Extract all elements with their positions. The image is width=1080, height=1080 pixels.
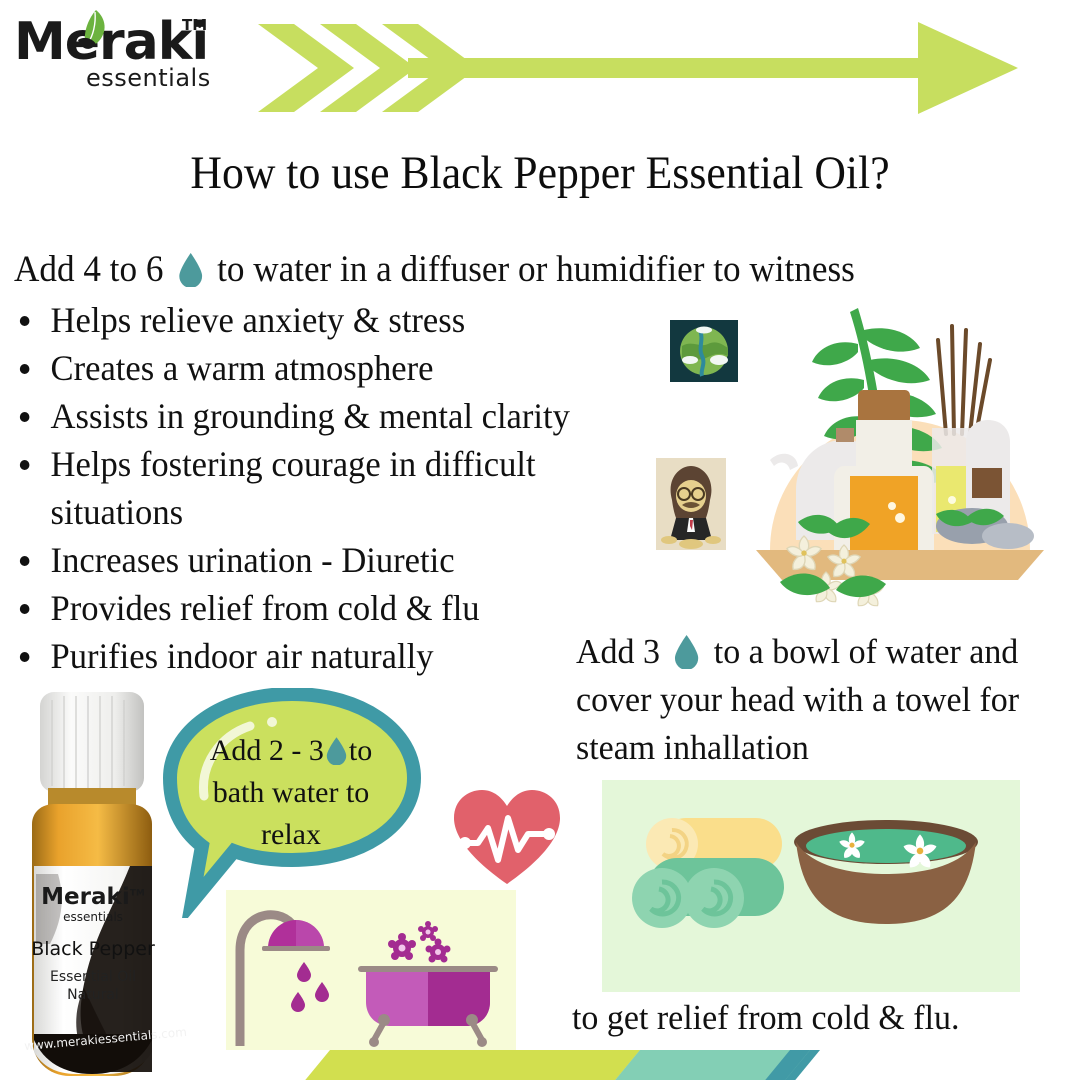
bubble-line3: relax [261, 818, 321, 851]
heartbeat-icon [452, 788, 562, 888]
brand-logo: Meraki TM essentials [14, 8, 224, 104]
list-item: Increases urination - Diuretic [16, 536, 650, 584]
logo-subtitle: essentials [86, 64, 211, 92]
list-item: Provides relief from cold & flu [16, 584, 650, 632]
arrow-right-icon [258, 16, 1058, 120]
list-item: Assists in grounding & mental clarity [16, 392, 650, 440]
page-title: How to use Black Pepper Essential Oil? [38, 146, 1042, 200]
infographic-canvas: Meraki TM essentials How to use Black Pe… [0, 0, 1080, 1080]
diffuser-intro-before: Add 4 to 6 [14, 249, 163, 290]
logo-trademark: TM [182, 16, 207, 34]
list-item: Creates a warm atmosphere [16, 344, 650, 392]
meditating-person-emoji [656, 458, 726, 550]
towels-and-bowl-illustration [602, 780, 1020, 992]
bottle-product-name: Black Pepper [18, 938, 168, 960]
bottle-brand: MerakiTM [18, 884, 168, 910]
bubble-line1-after: to [349, 734, 372, 767]
earth-globe-emoji [670, 320, 738, 382]
list-item: Helps fostering courage in difficult sit… [16, 440, 650, 536]
bottle-brand-word: Meraki [41, 884, 130, 910]
bubble-line2: bath water to [213, 776, 370, 809]
list-item: Helps relieve anxiety & stress [16, 296, 650, 344]
diffuser-intro-after: to water in a diffuser or humidifier to … [217, 249, 855, 290]
bath-speech-bubble: Add 2 - 3to bath water to relax [158, 688, 426, 918]
bubble-line1-before: Add 2 - 3 [210, 734, 324, 767]
bottle-product-type: Essential Oil Natural [18, 968, 168, 1004]
steam-text-before: Add 3 [576, 632, 660, 671]
bottle-brand-sub: essentials [18, 910, 168, 924]
diffuser-spa-illustration [740, 300, 1060, 610]
relief-caption: to get relief from cold & flu. [572, 998, 959, 1038]
bottle-brand-tm: TM [130, 888, 145, 898]
bottom-chevron-strip [0, 1044, 1080, 1080]
water-drop-icon [178, 253, 203, 287]
black-pepper-oil-bottle: MerakiTM essentials Black Pepper Essenti… [18, 688, 168, 1080]
logo-wordmark: Meraki [14, 12, 208, 72]
water-drop-icon [326, 737, 347, 765]
bottle-type-line1: Essential Oil [50, 969, 136, 985]
bottle-type-line2: Natural [67, 987, 119, 1003]
shower-bathtub-illustration [226, 890, 516, 1050]
leaf-icon [76, 10, 110, 56]
benefits-list: Helps relieve anxiety & stress Creates a… [16, 296, 676, 680]
diffuser-intro-line: Add 4 to 6 to water in a diffuser or hum… [14, 248, 855, 291]
list-item: Purifies indoor air naturally [16, 632, 650, 680]
bath-bubble-text: Add 2 - 3to bath water to relax [186, 730, 396, 856]
steam-instructions: Add 3 to a bowl of water and cover your … [576, 628, 1042, 772]
water-drop-icon [674, 635, 699, 669]
